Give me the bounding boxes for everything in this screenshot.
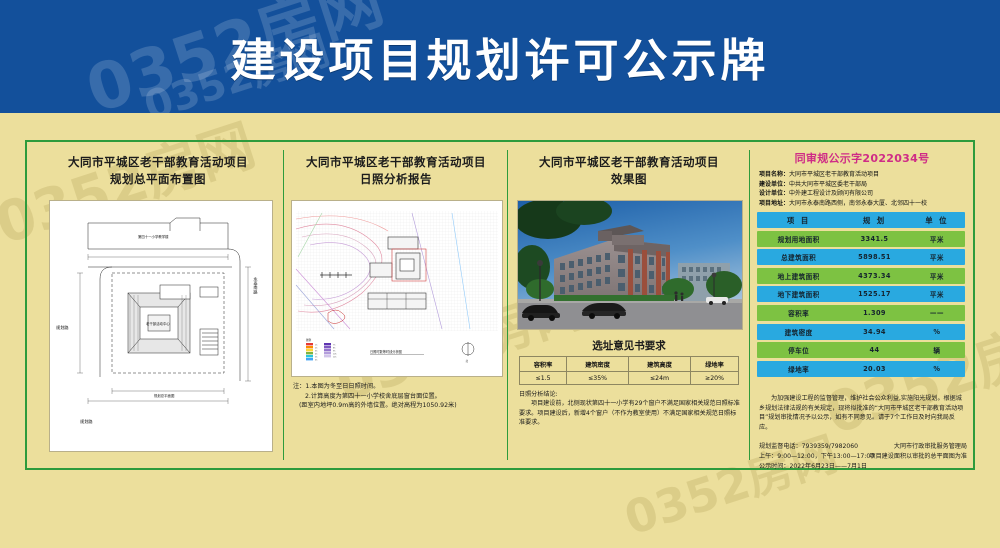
meta-label-1: 建设单位： (759, 181, 789, 188)
panel-rendering: 大同市平城区老干部教育活动项目 效果图 (509, 142, 749, 468)
plan-label-road-bottom: 规划路 (80, 418, 93, 425)
row-plan-0: 3341.5 (840, 235, 909, 243)
plan-label-road-right: 永泰南路 (253, 276, 259, 296)
indicators-header-unit: 单 位 (909, 215, 965, 226)
siting-header-2: 建筑高度 (629, 357, 691, 372)
row-item-7: 绿地率 (757, 364, 840, 374)
table-row: 建筑密度 34.94 % (757, 324, 965, 340)
table-row: 绿地率 20.03 % (757, 361, 965, 377)
row-unit-4: —— (909, 309, 965, 317)
siting-value-2: ≤24m (629, 372, 691, 385)
row-unit-2: 平米 (909, 271, 965, 281)
svg-text:北: 北 (466, 359, 469, 363)
table-row: 规划用地面积 3341.5 平米 (757, 231, 965, 247)
panel-permit-info: 同审规公示字2022034号 项目名称：大同市平城区老干部教育活动项目 建设单位… (751, 142, 973, 468)
meta-row-0: 项目名称：大同市平城区老干部教育活动项目 (759, 170, 971, 180)
plan-label-main: 老干部活动中心 (146, 321, 170, 326)
row-unit-1: 平米 (909, 252, 965, 262)
siting-table-header-row: 容积率 建筑密度 建筑高度 绿地率 (520, 357, 739, 372)
panel1-title-line1: 大同市平城区老干部教育活动项目 (33, 154, 283, 171)
siting-header-0: 容积率 (520, 357, 567, 372)
siting-header-3: 绿地率 (691, 357, 739, 372)
siting-value-0: ≤1.5 (520, 372, 567, 385)
sunlight-note-3: (距室内地坪0.9m高的外墙位置。绝对高程为1050.92米) (293, 401, 501, 411)
row-unit-0: 平米 (909, 234, 965, 244)
planning-indicators-table: 项 目 规 划 单 位 规划用地面积 3341.5 平米 总建筑面积 5898.… (757, 212, 965, 379)
row-item-0: 规划用地面积 (757, 234, 840, 244)
meta-label-3: 项目地址： (759, 200, 789, 207)
meta-value-1: 中共大同市平城区委老干部局 (789, 181, 867, 188)
publicity-period: 公示时间：2022年6月23日——7月1日 (759, 462, 967, 472)
conclusion-label: 日照分析结论: (519, 390, 741, 399)
siting-value-1: ≤35% (567, 372, 629, 385)
panel-divider-2 (507, 150, 508, 460)
panel1-title-line2: 规划总平面布置图 (33, 171, 283, 188)
panel3-title-line1: 大同市平城区老干部教育活动项目 (509, 154, 749, 171)
siting-section-title: 选址意见书要求 (509, 338, 749, 353)
permit-number: 同审规公示字2022034号 (751, 150, 973, 166)
plan-label-school: 第四十一小学教学楼 (138, 234, 169, 239)
meta-value-0: 大同市平城区老干部教育活动项目 (789, 171, 879, 178)
plan-caption: 规划总平面图 (154, 393, 175, 398)
svg-text:图例: 图例 (306, 338, 312, 342)
row-item-6: 停车位 (757, 345, 840, 355)
panel-divider-3 (749, 150, 750, 460)
meta-label-2: 设计单位： (759, 190, 789, 197)
indicators-header-item: 项 目 (757, 215, 840, 226)
authority-name: 大同市行政审批服务管理局 (767, 442, 967, 452)
row-plan-2: 4373.34 (840, 272, 909, 280)
architectural-rendering (517, 200, 743, 330)
header-banner: 0352房网 0352房网 建设项目规划许可公示牌 (0, 0, 1000, 113)
panel2-title-line2: 日照分析报告 (285, 171, 507, 188)
row-item-5: 建筑密度 (757, 327, 840, 337)
notice-paragraph-text: 为加强建设工程的监督管理，维护社会公众利益,实施阳光规划。根据城乡规划法律法规的… (759, 394, 967, 432)
sunlight-diagram-caption: 日照时数等时线分析图 (370, 349, 402, 354)
panel-sunlight-analysis: 大同市平城区老干部教育活动项目 日照分析报告 (285, 142, 507, 468)
issuing-authority: 大同市行政审批服务管理局 项目建设面积以审批的总平面图为准 (767, 442, 967, 462)
meta-row-2: 设计单位：中外建工程设计及顾问有限公司 (759, 189, 971, 199)
meta-row-1: 建设单位：中共大同市平城区委老干部局 (759, 180, 971, 190)
panel2-title-line1: 大同市平城区老干部教育活动项目 (285, 154, 507, 171)
authority-note: 项目建设面积以审批的总平面图为准 (767, 452, 967, 462)
page-title: 建设项目规划许可公示牌 (0, 0, 1000, 113)
table-row: 停车位 44 辆 (757, 342, 965, 358)
sunlight-notes: 注：1.本图为冬至日日照时间。 2.计算高度为第四十一小学校舍底层窗台面位置。 … (293, 382, 501, 411)
site-plan-drawing: 第四十一小学教学楼 老干部活动中心 规划总平面图 永泰南路 规划路 规划路 (49, 200, 273, 452)
panel-site-plan: 大同市平城区老干部教育活动项目 规划总平面布置图 (33, 142, 283, 468)
table-row: 容积率 1.309 —— (757, 305, 965, 321)
siting-requirements-table: 容积率 建筑密度 建筑高度 绿地率 ≤1.5 ≤35% ≤24m ≥20% (519, 356, 739, 385)
meta-label-0: 项目名称： (759, 171, 789, 178)
row-plan-5: 34.94 (840, 328, 909, 336)
table-row: 地上建筑面积 4373.34 平米 (757, 268, 965, 284)
row-plan-7: 20.03 (840, 365, 909, 373)
panel-divider-1 (283, 150, 284, 460)
meta-value-3: 大同市永泰南路西侧，南邻永泰大厦、北邻四十一校 (789, 200, 927, 207)
row-unit-7: % (909, 365, 965, 373)
row-plan-1: 5898.51 (840, 253, 909, 261)
project-meta: 项目名称：大同市平城区老干部教育活动项目 建设单位：中共大同市平城区委老干部局 … (759, 170, 971, 208)
row-unit-3: 平米 (909, 289, 965, 299)
meta-value-2: 中外建工程设计及顾问有限公司 (789, 190, 873, 197)
meta-row-3: 项目地址：大同市永泰南路西侧，南邻永泰大厦、北邻四十一校 (759, 199, 971, 209)
row-plan-6: 44 (840, 346, 909, 354)
siting-table-value-row: ≤1.5 ≤35% ≤24m ≥20% (520, 372, 739, 385)
row-item-3: 地下建筑面积 (757, 289, 840, 299)
plan-label-road-left: 规划路 (56, 324, 69, 331)
siting-value-3: ≥20% (691, 372, 739, 385)
conclusion-text: 项目建设前，北侧现状第四十一小学有29个窗户不满足国家相关规范日照标准要求。项目… (519, 399, 741, 427)
siting-header-1: 建筑密度 (567, 357, 629, 372)
sunlight-analysis-drawing: 图例 1h2h 3h4h (291, 200, 503, 377)
publicity-board: 0352房网 0352房网 建设项目规划许可公示牌 0352房网 0352房网 … (0, 0, 1000, 500)
row-item-4: 容积率 (757, 308, 840, 318)
indicators-header-row: 项 目 规 划 单 位 (757, 212, 965, 228)
row-item-1: 总建筑面积 (757, 252, 840, 262)
row-unit-5: % (909, 328, 965, 336)
table-row: 地下建筑面积 1525.17 平米 (757, 286, 965, 302)
sunlight-note-1: 注：1.本图为冬至日日照时间。 (293, 382, 501, 392)
sunlight-note-2: 2.计算高度为第四十一小学校舍底层窗台面位置。 (293, 392, 501, 402)
content-frame: 大同市平城区老干部教育活动项目 规划总平面布置图 (25, 140, 975, 470)
row-unit-6: 辆 (909, 345, 965, 355)
sunlight-conclusion: 日照分析结论: 项目建设前，北侧现状第四十一小学有29个窗户不满足国家相关规范日… (519, 390, 741, 428)
row-item-2: 地上建筑面积 (757, 271, 840, 281)
panel3-title-line2: 效果图 (509, 171, 749, 188)
row-plan-3: 1525.17 (840, 290, 909, 298)
notice-paragraph: 为加强建设工程的监督管理，维护社会公众利益,实施阳光规划。根据城乡规划法律法规的… (759, 394, 967, 432)
table-row: 总建筑面积 5898.51 平米 (757, 249, 965, 265)
indicators-header-plan: 规 划 (840, 215, 909, 226)
row-plan-4: 1.309 (840, 309, 909, 317)
